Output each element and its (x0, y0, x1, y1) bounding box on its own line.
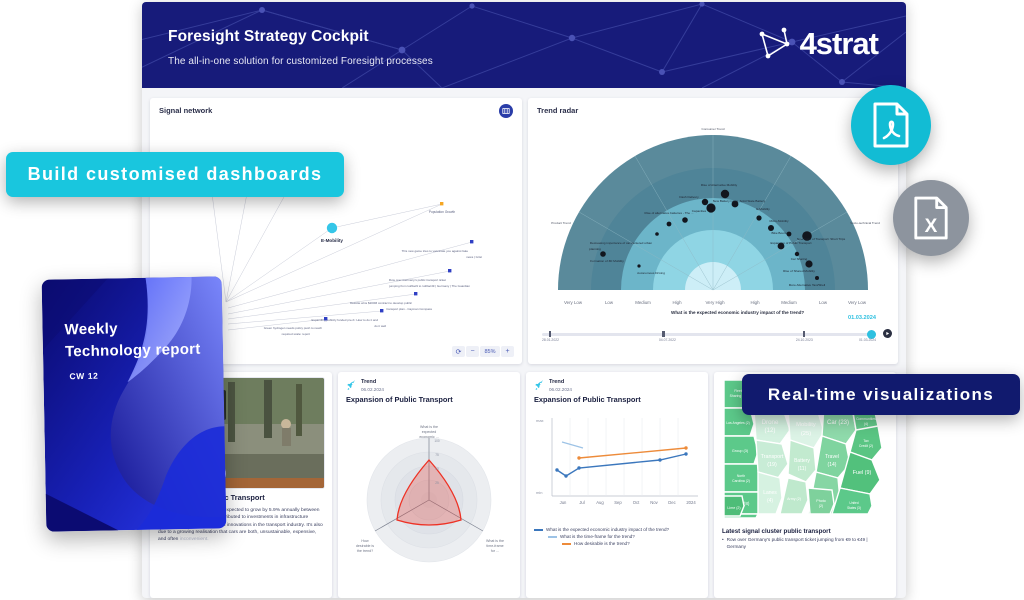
svg-text:required scale: report: required scale: report (282, 332, 311, 336)
rocket-icon (534, 380, 545, 391)
svg-text:Low: Low (605, 300, 614, 305)
svg-text:do it well: do it well (374, 324, 386, 328)
timeline-tick-4: 01.03.2024 (859, 338, 876, 342)
svg-text:Jul: Jul (579, 500, 584, 505)
graph-refresh-button[interactable]: ⟳ (452, 346, 465, 357)
svg-text:Very Low: Very Low (848, 300, 867, 305)
svg-text:Nov: Nov (650, 500, 658, 505)
radar-timeline[interactable]: 01.03.2024 28.01.2022 04.07.2022 24.10.2… (542, 329, 876, 348)
trend-radar-chart[interactable]: Consumer Trend Rise of Alternative Mobil… (528, 122, 898, 322)
svg-text:Fleet: Fleet (734, 389, 742, 393)
svg-text:Lime (2): Lime (2) (727, 506, 740, 510)
excel-glyph: X (912, 196, 950, 240)
svg-text:High: High (672, 300, 682, 305)
screenshot-stage: Foresight Strategy Cockpit The all-in-on… (0, 0, 1024, 600)
svg-text:Rise of Alternative Mobility: Rise of Alternative Mobility (701, 183, 738, 187)
svg-text:Capacities: Capacities (692, 209, 707, 213)
svg-text:100: 100 (434, 439, 440, 443)
page-subtitle: The all-in-one solution for customized F… (168, 56, 433, 67)
excel-file-icon[interactable]: X (893, 180, 969, 256)
svg-text:(12): (12) (764, 427, 775, 434)
svg-text:time-frame: time-frame (486, 544, 503, 548)
svg-text:New Form of Transport: Short T: New Form of Transport: Short Trips (797, 237, 846, 241)
svg-text:North: North (737, 474, 745, 478)
cluster-bullet: • Row over Germany's public transport ti… (714, 536, 896, 550)
legend-swatch (534, 529, 543, 531)
svg-text:Credit (2): Credit (2) (859, 444, 873, 448)
svg-text:Medium: Medium (635, 300, 651, 305)
svg-text:25: 25 (435, 481, 439, 485)
radar-axis-question: What is the expected economic industry i… (671, 310, 804, 315)
dashboard-header: Foresight Strategy Cockpit The all-in-on… (142, 2, 906, 88)
svg-text:Low: Low (819, 300, 828, 305)
svg-text:Green hydrogen needs policy pu: Green hydrogen needs policy push to reac… (264, 326, 323, 330)
svg-text:Fuel (9): Fuel (9) (853, 470, 872, 476)
news-body-fade: inconvenient. (180, 537, 209, 542)
svg-text:(11): (11) (798, 466, 807, 472)
svg-text:(4): (4) (864, 422, 868, 426)
weekly-report-background (42, 276, 227, 531)
line-card-chart[interactable]: max min JunJulAug SepOctNov (526, 410, 708, 518)
svg-text:Army (2): Army (2) (787, 497, 801, 501)
network-triangle-icon (754, 26, 796, 60)
graph-zoom-value: 85% (480, 346, 500, 357)
svg-text:Dec: Dec (668, 500, 675, 505)
rocket-icon (346, 380, 357, 391)
svg-text:E-Mobility: E-Mobility (321, 238, 343, 243)
svg-text:Jun: Jun (560, 500, 567, 505)
svg-text:the trend?: the trend? (357, 549, 373, 553)
svg-text:min: min (536, 490, 542, 495)
trend-line-card: Trend 06.02.2024 Expansion of Public Tra… (526, 372, 708, 598)
svg-text:max: max (536, 418, 544, 423)
svg-text:2024: 2024 (686, 500, 696, 505)
svg-text:X: X (925, 216, 938, 237)
weekly-report-card[interactable]: Weekly Technology report CW 12 (42, 276, 227, 531)
svg-text:(25): (25) (801, 431, 811, 437)
svg-text:Deloitte wins $200M contract t: Deloitte wins $200M contract to develop … (350, 301, 412, 305)
svg-text:How: How (361, 539, 369, 543)
svg-text:(4): (4) (767, 498, 773, 504)
svg-text:Formation of 3D Mobility: Formation of 3D Mobility (590, 259, 624, 263)
graph-zoom-controls[interactable]: ⟳ − 85% + (452, 346, 514, 357)
svg-text:This new game tries to vaccina: This new game tries to vaccinate you aga… (402, 249, 469, 253)
svg-text:news | Grist: news | Grist (466, 255, 482, 259)
badge-build-dashboards: Build customised dashboards (6, 152, 344, 197)
pdf-file-icon[interactable] (851, 85, 931, 165)
svg-text:Aug: Aug (596, 500, 604, 505)
svg-text:High: High (750, 300, 760, 305)
svg-text:Micro-Mobility: Micro-Mobility (769, 219, 789, 223)
cluster-bullet-text: Row over Germany's public transport tick… (727, 536, 888, 550)
svg-text:planning: planning (589, 247, 601, 251)
timeline-tick-3: 24.10.2023 (796, 338, 813, 342)
page-title: Foresight Strategy Cockpit (168, 28, 369, 46)
svg-text:Expansion of Public Transport: Expansion of Public Transport (770, 241, 811, 245)
svg-text:Very Low: Very Low (564, 300, 583, 305)
svg-text:More Alternative Taxi/Shell: More Alternative Taxi/Shell (789, 283, 826, 287)
play-icon[interactable] (883, 329, 892, 338)
legend-label: What is the expected economic industry i… (546, 527, 669, 534)
svg-text:(19): (19) (767, 462, 777, 468)
svg-text:Expanding publicly funded pre-: Expanding publicly funded pre-K: How to … (311, 318, 378, 322)
graph-zoom-out-button[interactable]: − (466, 346, 479, 357)
svg-text:75: 75 (435, 453, 439, 457)
svg-text:Mobility: Mobility (796, 422, 816, 428)
svg-text:Lanes: Lanes (763, 490, 777, 496)
svg-text:Drone: Drone (762, 419, 779, 426)
svg-text:Communities: Communities (856, 417, 876, 421)
svg-text:jumping from \u20ac9 to \u20ac: jumping from \u20ac9 to \u20ac49 | Germa… (388, 284, 470, 288)
card-meta: Trend 06.02.2024 (338, 372, 520, 393)
line-card-heading: Expansion of Public Transport (526, 393, 708, 404)
svg-text:Product Trend: Product Trend (551, 221, 571, 225)
svg-text:Oct: Oct (633, 500, 640, 505)
weekly-report-week: CW 12 (69, 371, 98, 382)
svg-text:Car Sharing: Car Sharing (791, 257, 808, 261)
radar-card-heading: Expansion of Public Transport (338, 393, 520, 404)
svg-text:Rise of Shared Mobility: Rise of Shared Mobility (783, 269, 815, 273)
svg-text:Medium: Medium (781, 300, 797, 305)
signal-network-title: Signal network (159, 106, 212, 115)
svg-text:Decreasing importance of car-c: Decreasing importance of car-centered ur… (590, 241, 653, 245)
svg-text:Travel: Travel (825, 454, 839, 460)
timeline-tick-2: 04.07.2022 (659, 338, 676, 342)
card-meta: Trend 06.02.2024 (526, 372, 708, 393)
line-chart-legend: What is the expected economic industry i… (526, 523, 708, 548)
legend-item: What is the time-frame for the trend? (534, 534, 700, 541)
svg-text:desirable is: desirable is (356, 544, 374, 548)
logo-wordmark: 4strat (800, 28, 878, 59)
svg-text:Dash Delivery: Dash Delivery (679, 195, 699, 199)
trend-radar-title: Trend radar (537, 106, 578, 115)
svg-text:What is the: What is the (486, 539, 504, 543)
trend-radar-panel: Trend radar (528, 98, 898, 364)
svg-text:economic ...: economic ... (419, 435, 438, 439)
svg-text:What is the: What is the (420, 425, 438, 429)
svg-text:Very High: Very High (705, 300, 725, 305)
card-meta-type: Trend (549, 379, 572, 387)
weekly-report-line1: Weekly (64, 320, 118, 338)
svg-text:for ...: for ... (491, 549, 499, 553)
cluster-heading: Latest signal cluster public transport (714, 523, 896, 536)
svg-text:States (3): States (3) (847, 506, 861, 510)
brand-logo: 4strat (754, 26, 878, 60)
svg-text:New Battery types_Solid State: New Battery types_Solid State Battery (713, 199, 766, 203)
svg-text:(2): (2) (819, 504, 823, 508)
svg-text:Carolina (2): Carolina (2) (732, 479, 750, 483)
legend-item: How desirable is the trend? (534, 541, 700, 548)
svg-text:E-Mobility: E-Mobility (756, 207, 770, 211)
pdf-glyph (871, 102, 911, 148)
svg-text:United: United (849, 501, 858, 505)
svg-text:Autonomous Driving: Autonomous Driving (637, 271, 665, 275)
badge-realtime-visualizations: Real-time visualizations (742, 374, 1020, 415)
bullet-marker: • (722, 536, 724, 550)
legend-label: What is the time-frame for the trend? (560, 534, 635, 541)
svg-text:Rise of alternative batteries: Rise of alternative batteries - The ... (645, 211, 694, 215)
svg-text:Los Angeles (2): Los Angeles (2) (726, 421, 750, 425)
svg-text:50: 50 (435, 467, 439, 471)
graph-zoom-in-button[interactable]: + (501, 346, 514, 357)
radar-card-chart[interactable]: 10075 5025 What is theexpectedeconomic .… (338, 406, 520, 586)
svg-text:Socio-technical Trend: Socio-technical Trend (850, 221, 880, 225)
svg-text:Consumer Trend: Consumer Trend (701, 127, 724, 131)
svg-text:Tax: Tax (863, 439, 869, 443)
svg-text:(14): (14) (828, 462, 837, 468)
timeline-tick-1: 28.01.2022 (542, 338, 559, 342)
card-meta-type: Trend (361, 379, 384, 387)
card-meta-date: 06.02.2024 (549, 387, 572, 393)
svg-text:Group (3): Group (3) (732, 449, 749, 453)
svg-text:Sep: Sep (614, 500, 622, 505)
svg-text:expected: expected (422, 430, 437, 434)
svg-text:Car (23): Car (23) (827, 420, 849, 426)
svg-text:Battery: Battery (794, 458, 810, 464)
legend-swatch (548, 536, 557, 538)
weekly-report-line2: Technology report (65, 341, 201, 361)
legend-label: How desirable is the trend? (574, 541, 630, 548)
svg-text:Photo: Photo (816, 499, 825, 503)
svg-text:Transport: Transport (761, 454, 784, 460)
timeline-current-date: 01.03.2024 (848, 315, 876, 321)
svg-text:transport plan - Cayman Compas: transport plan - Cayman Compass (386, 307, 432, 311)
dashboard-window: Foresight Strategy Cockpit The all-in-on… (142, 2, 906, 598)
svg-text:Population Growth: Population Growth (429, 210, 455, 214)
legend-item: What is the expected economic industry i… (534, 527, 700, 534)
svg-text:Bike Boom: Bike Boom (772, 231, 787, 235)
trend-radar-card: Trend 06.02.2024 Expansion of Public Tra… (338, 372, 520, 598)
svg-text:Row over Germany's public tran: Row over Germany's public transport tick… (389, 278, 446, 282)
card-meta-date: 06.02.2024 (361, 387, 384, 393)
legend-swatch (562, 543, 571, 545)
